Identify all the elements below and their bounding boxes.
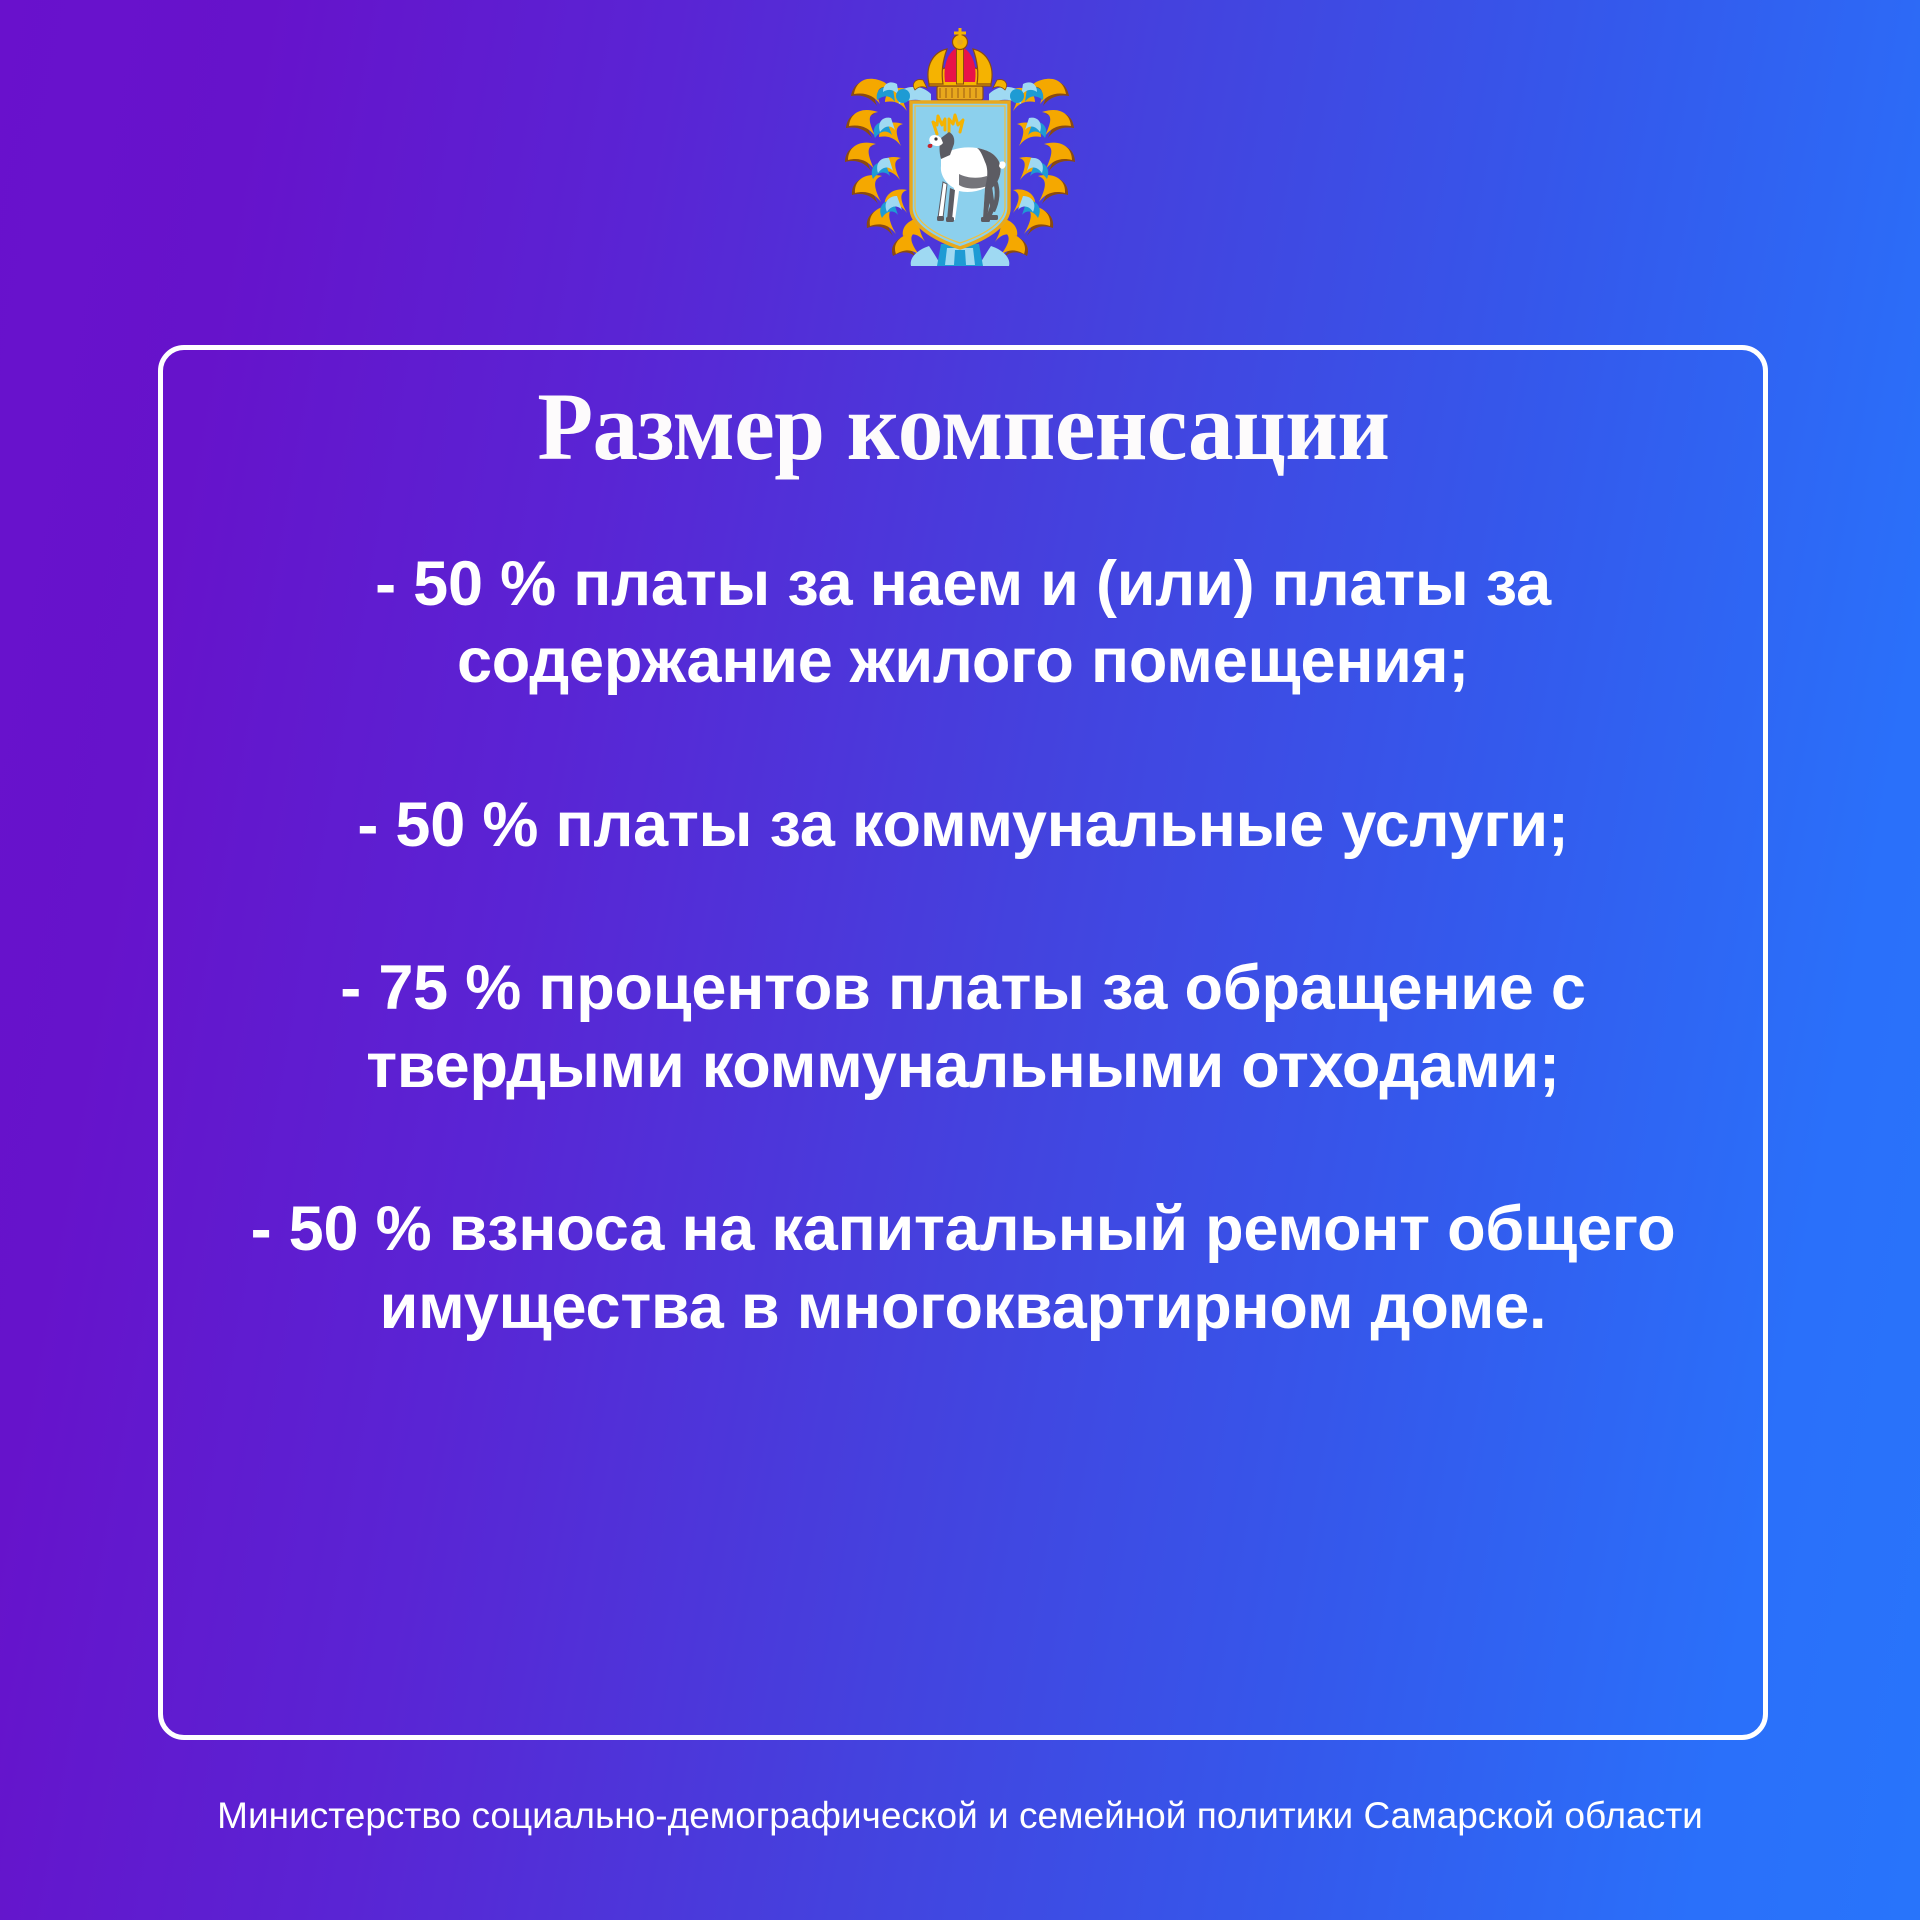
ministry-attribution: Министерство социально-демографической и… xyxy=(0,1795,1920,1837)
list-item: - 75 % процентов платы за обращение с тв… xyxy=(213,950,1713,1105)
list-item: - 50 % платы за коммунальные услуги; xyxy=(238,787,1688,864)
page-title: Размер компенсации xyxy=(537,376,1389,478)
compensation-list: - 50 % платы за наем и (или) платы за со… xyxy=(201,546,1725,1346)
list-item: - 50 % взноса на капитальный ремонт обще… xyxy=(203,1191,1723,1346)
content-panel: Размер компенсации - 50 % платы за наем … xyxy=(158,345,1768,1740)
imperial-crown-icon xyxy=(913,28,1006,100)
emblem-container xyxy=(0,22,1920,272)
list-item: - 50 % платы за наем и (или) платы за со… xyxy=(303,546,1623,701)
coat-of-arms-samara-oblast-icon xyxy=(837,22,1083,272)
